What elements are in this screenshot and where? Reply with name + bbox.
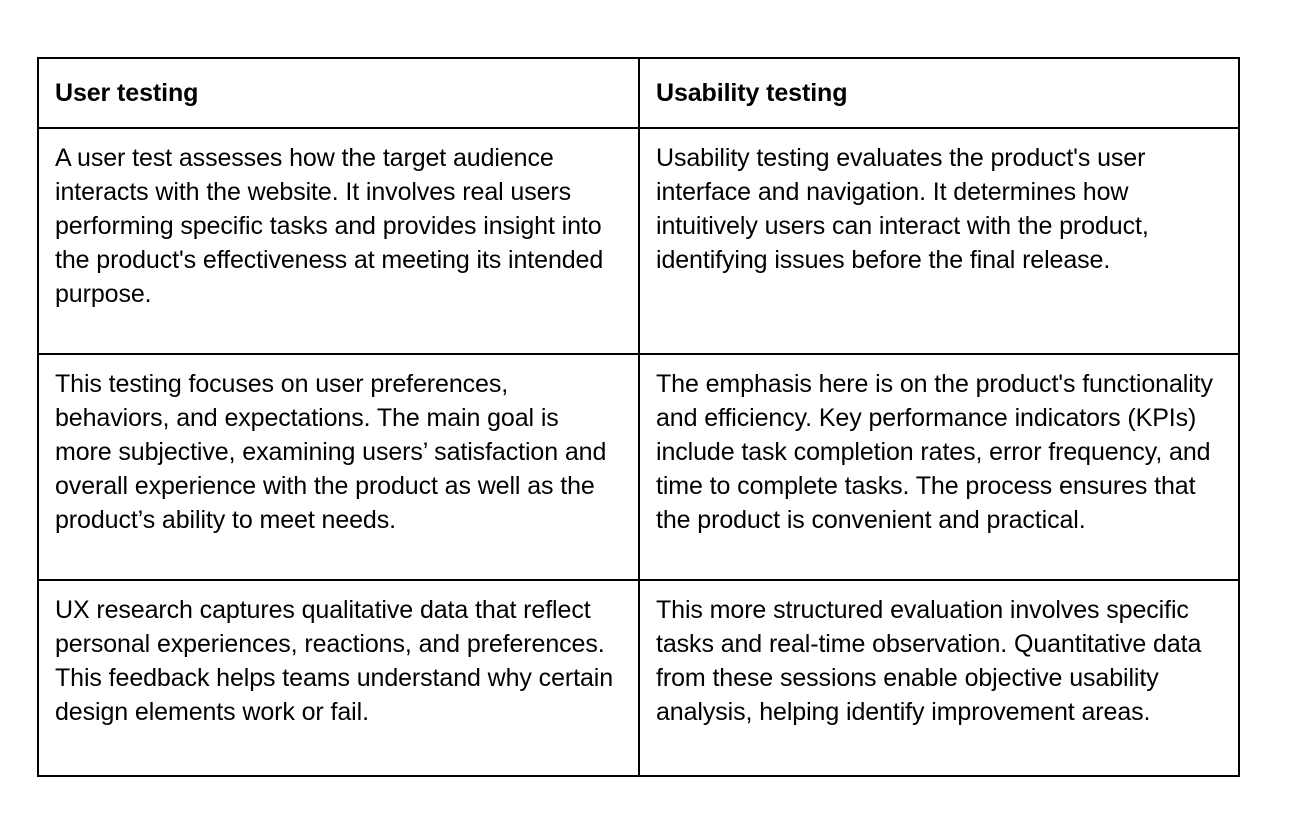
table-row: A user test assesses how the target audi… — [38, 128, 1239, 354]
cell-usability-testing-2: The emphasis here is on the product's fu… — [639, 354, 1239, 580]
testing-comparison-table: User testing Usability testing A user te… — [37, 57, 1240, 777]
cell-user-testing-2: This testing focuses on user preferences… — [38, 354, 639, 580]
column-header-user-testing: User testing — [38, 58, 639, 128]
table-row: This testing focuses on user preferences… — [38, 354, 1239, 580]
table-header: User testing Usability testing — [38, 58, 1239, 128]
table-header-row: User testing Usability testing — [38, 58, 1239, 128]
table-body: A user test assesses how the target audi… — [38, 128, 1239, 776]
cell-usability-testing-1: Usability testing evaluates the product'… — [639, 128, 1239, 354]
cell-usability-testing-3: This more structured evaluation involves… — [639, 580, 1239, 776]
page-canvas: User testing Usability testing A user te… — [0, 0, 1298, 838]
column-header-usability-testing: Usability testing — [639, 58, 1239, 128]
table-row: UX research captures qualitative data th… — [38, 580, 1239, 776]
cell-user-testing-3: UX research captures qualitative data th… — [38, 580, 639, 776]
cell-user-testing-1: A user test assesses how the target audi… — [38, 128, 639, 354]
